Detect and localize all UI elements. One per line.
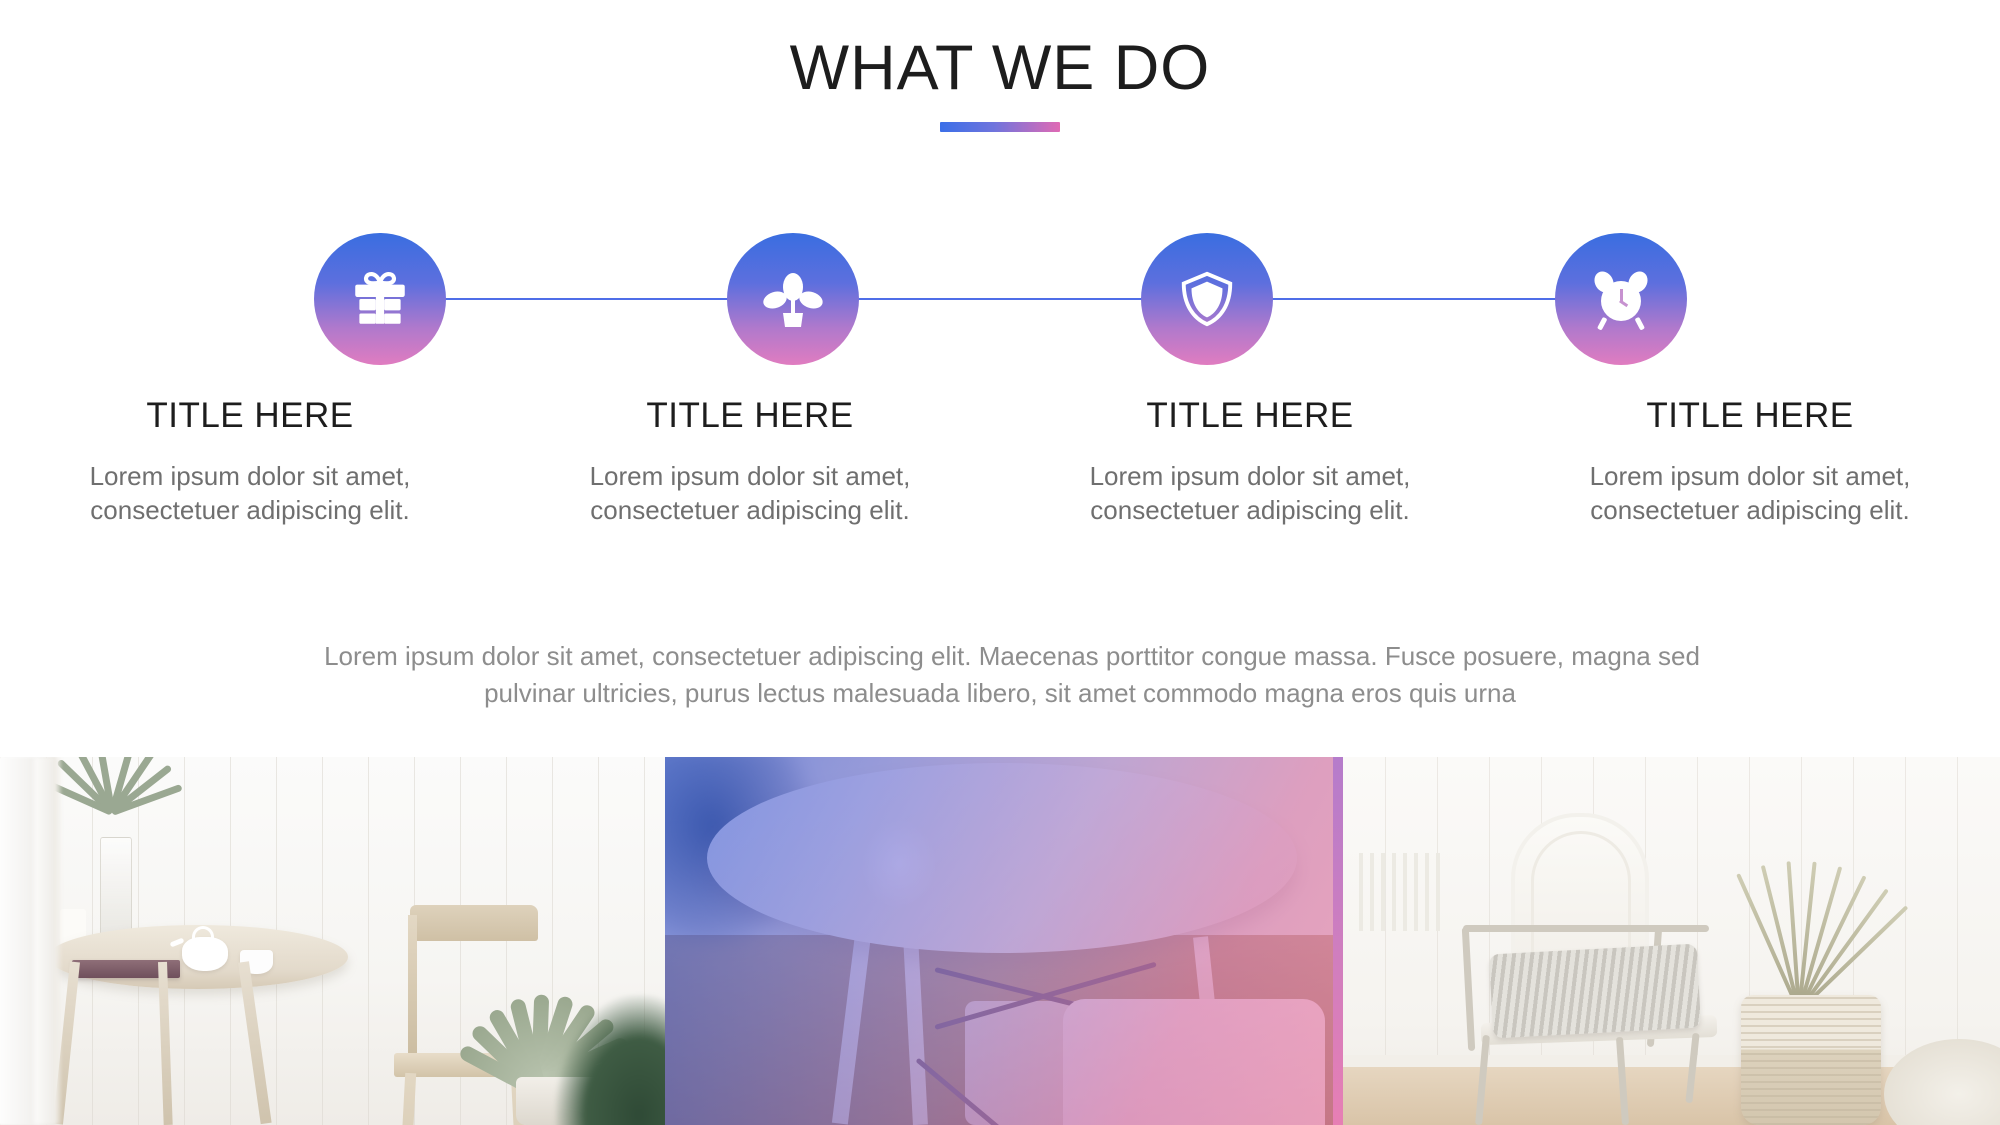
- feature-body: Lorem ipsum dolor sit amet, consectetuer…: [28, 459, 472, 528]
- timeline-connector-line: [380, 298, 1621, 300]
- alarm-clock-icon: [1589, 267, 1653, 331]
- feature-column-2: TITLE HERE Lorem ipsum dolor sit amet, c…: [500, 395, 1000, 528]
- photo-rattan-chair-basket: [1333, 757, 2000, 1125]
- title-underline-gradient: [940, 122, 1060, 132]
- gift-icon: [347, 266, 413, 332]
- timeline-node-2[interactable]: [727, 233, 859, 365]
- feature-body: Lorem ipsum dolor sit amet, consectetuer…: [1528, 459, 1972, 528]
- dried-grass: [1763, 781, 1943, 1011]
- feature-columns: TITLE HERE Lorem ipsum dolor sit amet, c…: [0, 395, 2000, 528]
- timeline-node-3[interactable]: [1141, 233, 1273, 365]
- feature-title: TITLE HERE: [1528, 395, 1972, 437]
- timeline-node-4[interactable]: [1555, 233, 1687, 365]
- photo-strip: [0, 757, 2000, 1125]
- slide-header: WHAT WE DO: [0, 32, 2000, 132]
- page-title: WHAT WE DO: [0, 32, 2000, 104]
- feature-column-1: TITLE HERE Lorem ipsum dolor sit amet, c…: [0, 395, 500, 528]
- gradient-overlay: [665, 757, 1333, 1125]
- feature-column-4: TITLE HERE Lorem ipsum dolor sit amet, c…: [1500, 395, 2000, 528]
- timeline-node-1[interactable]: [314, 233, 446, 365]
- photo-gradient-overlay-table: [665, 757, 1333, 1125]
- photo-white-interior-table: [0, 757, 665, 1125]
- feature-body: Lorem ipsum dolor sit amet, consectetuer…: [1028, 459, 1472, 528]
- potted-plant-icon: [761, 267, 825, 331]
- feature-column-3: TITLE HERE Lorem ipsum dolor sit amet, c…: [1000, 395, 1500, 528]
- feature-title: TITLE HERE: [528, 395, 972, 437]
- slide: WHAT WE DO: [0, 0, 2000, 1125]
- summary-line-1: Lorem ipsum dolor sit amet, consectetuer…: [314, 638, 1710, 675]
- timeline-row: [0, 233, 2000, 365]
- feature-title: TITLE HERE: [1028, 395, 1472, 437]
- shield-icon: [1176, 268, 1238, 330]
- summary-line-2: pulvinar ultricies, purus lectus malesua…: [290, 675, 1710, 712]
- summary-paragraph: Lorem ipsum dolor sit amet, consectetuer…: [290, 638, 1710, 712]
- feature-title: TITLE HERE: [28, 395, 472, 437]
- feature-body: Lorem ipsum dolor sit amet, consectetuer…: [528, 459, 972, 528]
